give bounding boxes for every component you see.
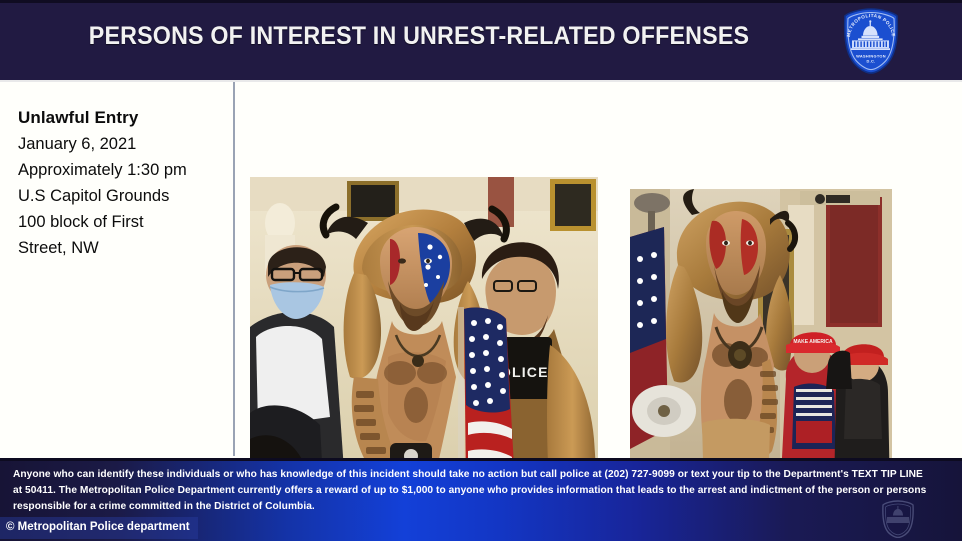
incident-time: Approximately 1:30 pm: [18, 157, 223, 183]
incident-date: January 6, 2021: [18, 131, 223, 157]
header-top-strip: [0, 0, 962, 3]
svg-text:MAKE AMERICA: MAKE AMERICA: [793, 339, 833, 345]
incident-address-line2: Street, NW: [18, 235, 223, 261]
suspect-photo-right: MAKE AMERICA: [630, 189, 892, 497]
svg-text:D.C.: D.C.: [867, 58, 876, 63]
incident-location: U.S Capitol Grounds: [18, 183, 223, 209]
poster-body: Unlawful Entry January 6, 2021 Approxima…: [0, 80, 962, 458]
police-badge-watermark-icon: [880, 500, 916, 538]
tip-disclaimer-text: Anyone who can identify these individual…: [13, 467, 930, 515]
case-info-block: Unlawful Entry January 6, 2021 Approxima…: [18, 105, 223, 261]
content-top-hairline: [0, 80, 962, 82]
vertical-divider: [233, 82, 235, 456]
poster-footer: Anyone who can identify these individual…: [0, 458, 962, 541]
incident-address-line1: 100 block of First: [18, 209, 223, 235]
poster-header: PERSONS OF INTEREST IN UNREST-RELATED OF…: [0, 0, 962, 80]
offense-label: Unlawful Entry: [18, 105, 223, 131]
copyright-label: © Metropolitan Police department: [0, 517, 198, 539]
footer-top-line: [0, 458, 962, 461]
suspect-photo-left: POLICE: [250, 177, 598, 499]
poster-slide: PERSONS OF INTEREST IN UNREST-RELATED OF…: [0, 0, 962, 541]
police-badge-icon: METROPOLITAN POLICE WASHINGTON D.C.: [840, 8, 902, 74]
page-title: PERSONS OF INTEREST IN UNREST-RELATED OF…: [29, 22, 808, 51]
